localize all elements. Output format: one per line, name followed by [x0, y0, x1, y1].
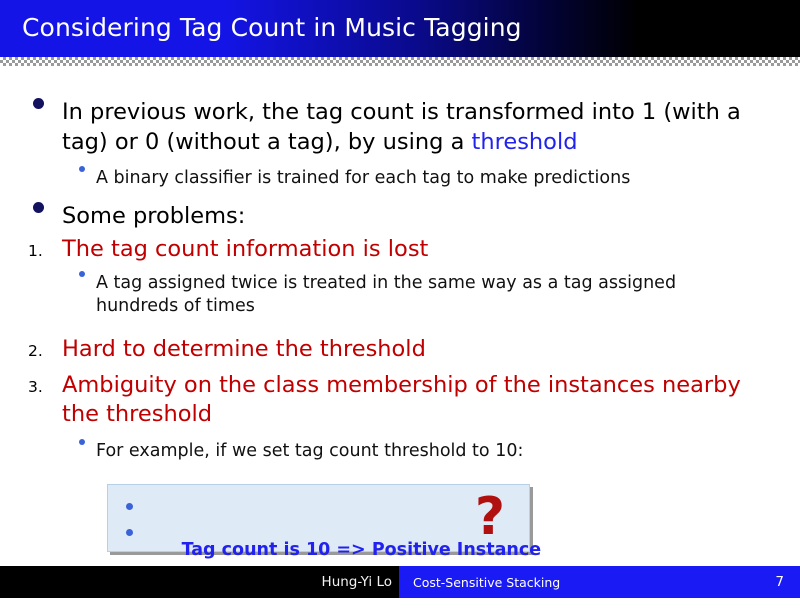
footer-author: Hung-Yi Lo — [322, 574, 392, 591]
sub-bullet-item-3: For example, if we set tag count thresho… — [0, 439, 760, 463]
numbered-item-3-continued: the threshold — [0, 400, 760, 429]
keyword-threshold: threshold — [472, 129, 578, 155]
footer-subject-bar: Cost-Sensitive Stacking 7 — [399, 566, 800, 598]
numbered-item-3-number: 3. — [28, 376, 54, 398]
numbered-item-2-number: 2. — [28, 340, 54, 362]
numbered-item-1: 1. The tag count information is lost — [0, 235, 760, 264]
sub-bullet-3-text: For example, if we set tag count thresho… — [96, 441, 523, 461]
slide-footer: Hung-Yi Lo Cost-Sensitive Stacking 7 — [0, 566, 800, 598]
sub-bullet-item-2: A tag assigned twice is treated in the s… — [0, 271, 760, 295]
bullet-item-1-continued: tag) or 0 (without a tag), by using a th… — [0, 128, 760, 157]
numbered-item-3: 3. Ambiguity on the class membership of … — [0, 371, 760, 400]
numbered-item-1-number: 1. — [28, 240, 54, 262]
slide-body: In previous work, the tag count is trans… — [0, 66, 800, 566]
bullet-1-line-2-text: tag) or 0 (without a tag), by using a — [62, 129, 472, 155]
bullet-dot-icon — [33, 98, 44, 109]
sub-bullet-2-line-1: A tag assigned twice is treated in the s… — [96, 273, 676, 293]
numbered-item-2-text: Hard to determine the threshold — [62, 336, 426, 362]
bullet-item-1: In previous work, the tag count is trans… — [0, 98, 760, 127]
numbered-item-2: 2. Hard to determine the threshold — [0, 335, 760, 364]
numbered-item-3-line-1: Ambiguity on the class membership of the… — [62, 372, 741, 398]
page-title: Considering Tag Count in Music Tagging — [22, 13, 522, 43]
footer-subject: Cost-Sensitive Stacking — [413, 575, 560, 591]
sub-bullet-1-text: A binary classifier is trained for each … — [96, 168, 630, 188]
footer-page-number: 7 — [775, 574, 784, 591]
bullet-1-line-1: In previous work, the tag count is trans… — [62, 98, 760, 127]
question-mark-icon: ? — [475, 486, 505, 548]
numbered-item-1-text: The tag count information is lost — [62, 236, 428, 262]
bullet-1-line-2: tag) or 0 (without a tag), by using a th… — [62, 128, 760, 157]
example-callout-box: Tag count is 10 => Positive Instance Tag… — [107, 484, 530, 552]
sub-bullet-item-2-continued: hundreds of times — [0, 294, 760, 318]
slide-header-bar: Considering Tag Count in Music Tagging — [0, 0, 800, 57]
bullet-dot-icon — [33, 202, 44, 213]
bullet-2-text: Some problems: — [62, 202, 760, 231]
bullet-item-2: Some problems: — [0, 202, 760, 231]
callout-bullet-dot-icon — [126, 503, 133, 510]
header-divider-stripe — [0, 57, 800, 66]
callout-bullet-dot-icon — [126, 529, 133, 536]
numbered-item-3-line-2: the threshold — [62, 401, 212, 427]
sub-bullet-dot-icon — [79, 271, 85, 277]
sub-bullet-dot-icon — [79, 439, 85, 445]
sub-bullet-dot-icon — [79, 166, 85, 172]
sub-bullet-2-line-2: hundreds of times — [96, 296, 255, 316]
sub-bullet-item-1: A binary classifier is trained for each … — [0, 166, 760, 190]
